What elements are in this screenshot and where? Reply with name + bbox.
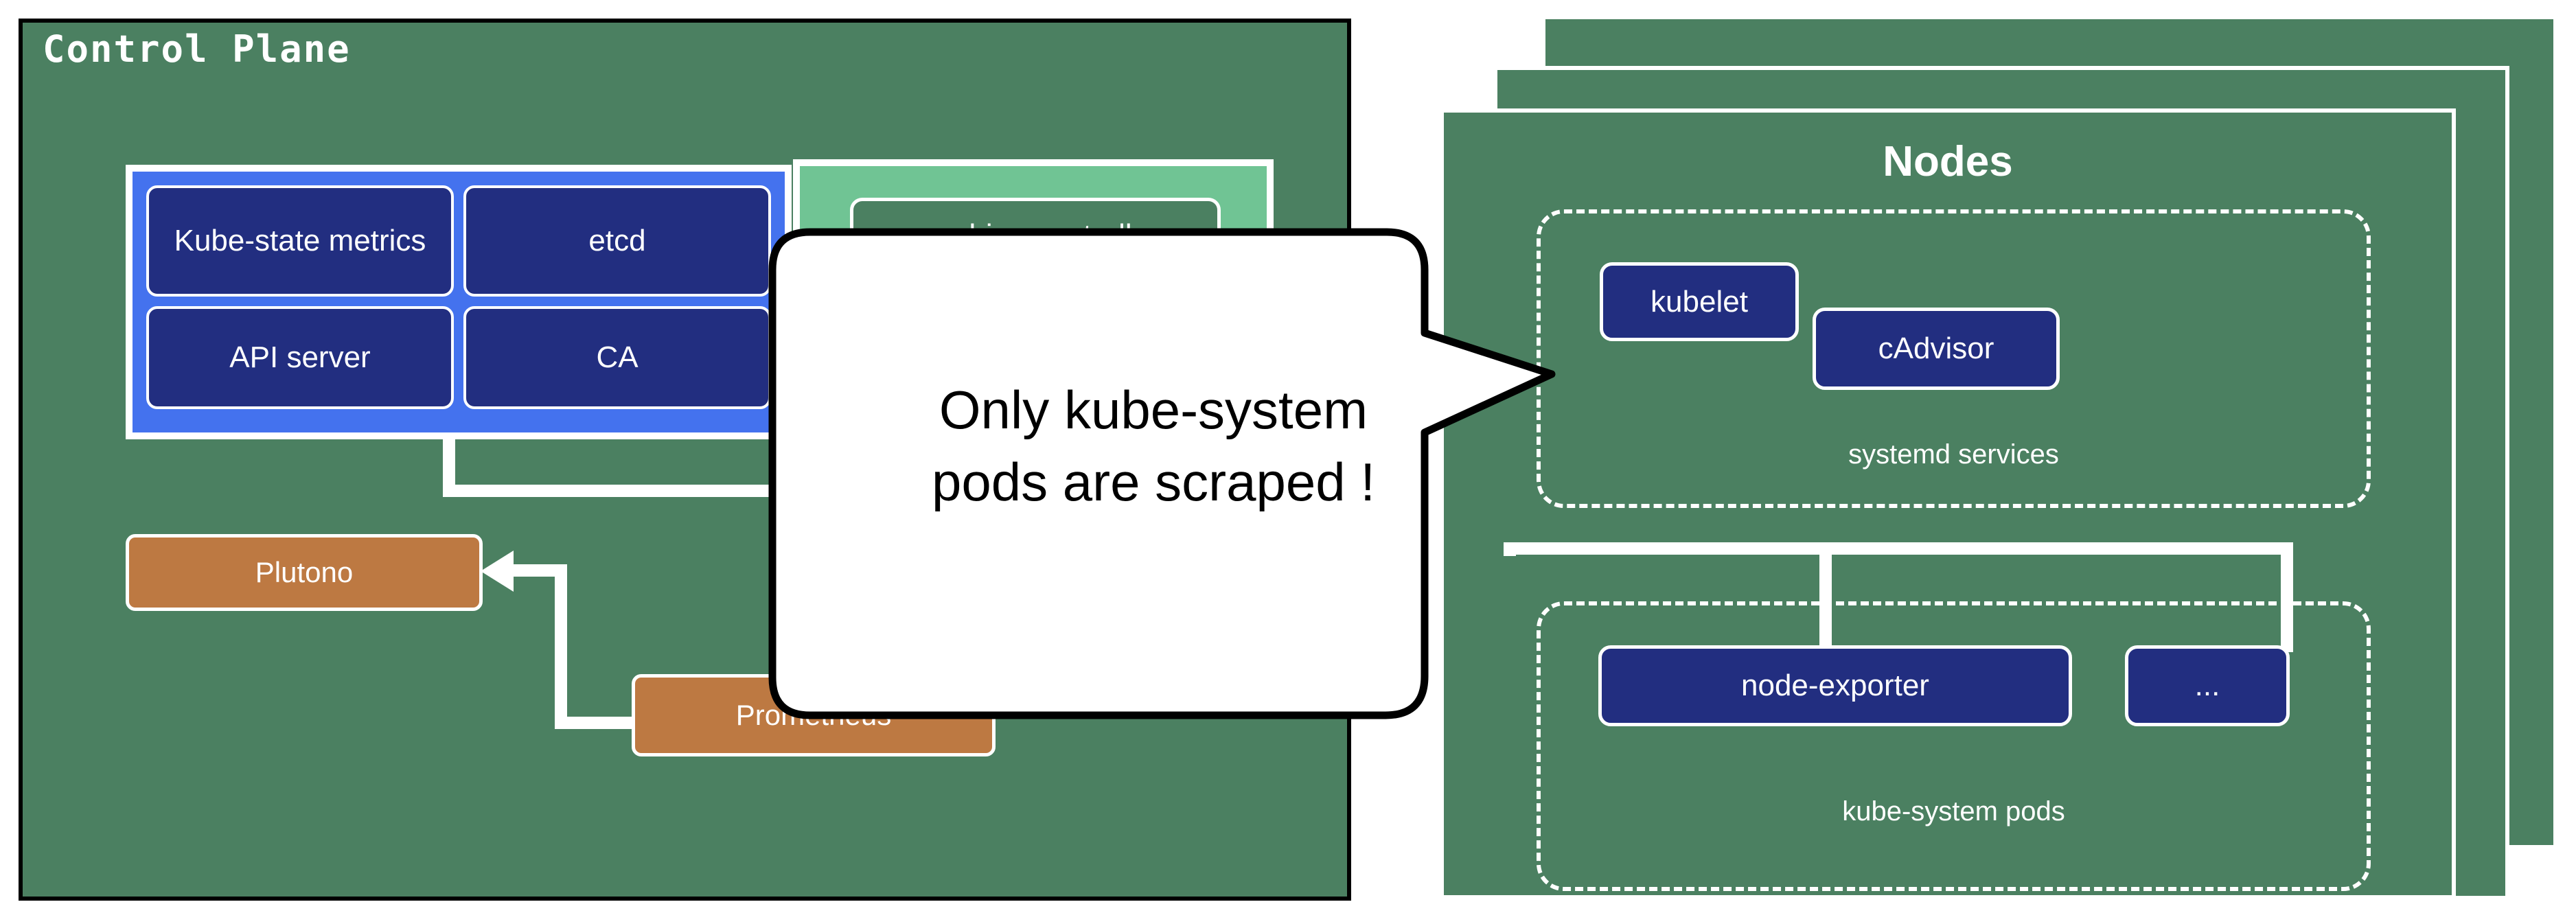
component-plutono[interactable]: Plutono <box>126 534 483 611</box>
connector-prometheus-horizontal <box>555 717 644 729</box>
component-ca[interactable]: CA <box>463 306 771 409</box>
systemd-services-caption: systemd services <box>1537 439 2371 470</box>
component-api-server[interactable]: API server <box>146 306 454 409</box>
component-label: ... <box>2195 669 2220 703</box>
control-plane-title: Control Plane <box>43 27 351 71</box>
component-label: kubelet <box>1651 285 1748 319</box>
component-label: API server <box>229 340 370 375</box>
nodes-title: Nodes <box>1440 137 2456 186</box>
control-plane-components-group: Kube-state metrics etcd API server CA <box>126 165 792 439</box>
callout-text: Only kube-system pods are scraped ! <box>817 374 1490 519</box>
component-label: Kube-state metrics <box>174 224 426 259</box>
connector-prometheus-vertical <box>555 577 567 729</box>
component-etcd[interactable]: etcd <box>463 185 771 297</box>
component-cadvisor[interactable]: cAdvisor <box>1813 308 2060 390</box>
component-other-pods[interactable]: ... <box>2125 645 2290 726</box>
component-label: cAdvisor <box>1878 332 1994 366</box>
connector-nodes-horizontal <box>1504 542 2293 555</box>
component-node-exporter[interactable]: node-exporter <box>1598 645 2072 726</box>
component-label: Plutono <box>255 556 353 589</box>
callout-line-1: Only kube-system <box>817 374 1490 446</box>
component-label: CA <box>596 340 638 375</box>
component-label: node-exporter <box>1741 669 1929 703</box>
component-kube-state-metrics[interactable]: Kube-state metrics <box>146 185 454 297</box>
callout-line-2: pods are scraped ! <box>817 446 1490 518</box>
component-kubelet[interactable]: kubelet <box>1600 262 1799 341</box>
component-label: etcd <box>588 224 645 259</box>
connector-plutono-horizontal <box>508 564 567 577</box>
arrowhead-to-plutono <box>481 551 514 592</box>
diagram-canvas: Control Plane Kube-state metrics etcd AP… <box>0 0 2576 913</box>
kube-system-pods-caption: kube-system pods <box>1537 796 2371 827</box>
